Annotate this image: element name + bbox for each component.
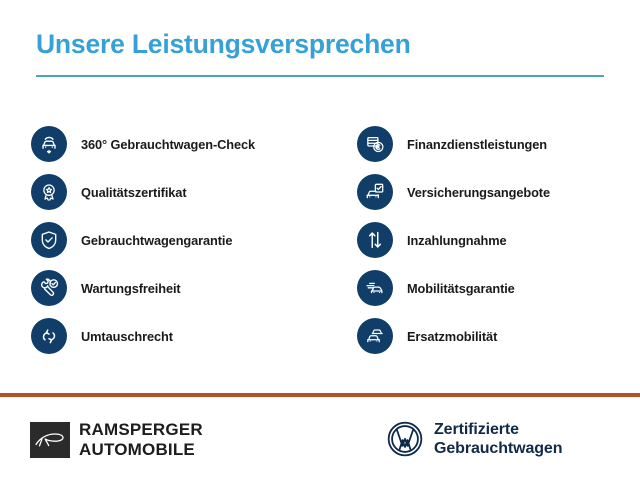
feature-label: Versicherungsangebote — [407, 185, 550, 200]
feature-item: Finanzdienstleistungen — [357, 120, 640, 168]
volkswagen-logo: Zertifizierte Gebrauchtwagen — [386, 420, 562, 458]
arrows-up-down-icon — [357, 222, 393, 258]
header: Unsere Leistungsversprechen — [36, 30, 604, 77]
footer: RAMSPERGER AUTOMOBILE Zertifizierte Gebr… — [0, 418, 640, 474]
vw-line2: Gebrauchtwagen — [434, 439, 562, 458]
ramsperger-line2: AUTOMOBILE — [79, 440, 203, 460]
feature-label: Ersatzmobilität — [407, 329, 497, 344]
ramsperger-wordmark: RAMSPERGER AUTOMOBILE — [79, 420, 203, 459]
page-title: Unsere Leistungsversprechen — [36, 30, 604, 59]
ramsperger-line1: RAMSPERGER — [79, 420, 203, 440]
ramsperger-logo-icon — [30, 422, 70, 458]
money-euro-icon — [357, 126, 393, 162]
feature-label: Mobilitätsgarantie — [407, 281, 515, 296]
two-cars-icon — [357, 318, 393, 354]
feature-column-right: Finanzdienstleistungen Versicherungsange… — [0, 120, 640, 360]
slide-root: Unsere Leistungsversprechen — [0, 0, 640, 480]
car-motion-icon — [357, 270, 393, 306]
vw-logo-icon — [386, 420, 424, 458]
vw-wordmark: Zertifizierte Gebrauchtwagen — [434, 420, 562, 458]
features-section: 360° Gebrauchtwagen-Check Qualitätszerti… — [0, 120, 640, 360]
feature-item: Mobilitätsgarantie — [357, 264, 640, 312]
vw-line1: Zertifizierte — [434, 420, 562, 439]
feature-item: Inzahlungnahme — [357, 216, 640, 264]
footer-divider — [0, 393, 640, 397]
ramsperger-logo: RAMSPERGER AUTOMOBILE — [30, 420, 203, 459]
feature-label: Inzahlungnahme — [407, 233, 507, 248]
title-divider — [36, 75, 604, 77]
feature-label: Finanzdienstleistungen — [407, 137, 547, 152]
feature-item: Versicherungsangebote — [357, 168, 640, 216]
car-document-check-icon — [357, 174, 393, 210]
feature-item: Ersatzmobilität — [357, 312, 640, 360]
